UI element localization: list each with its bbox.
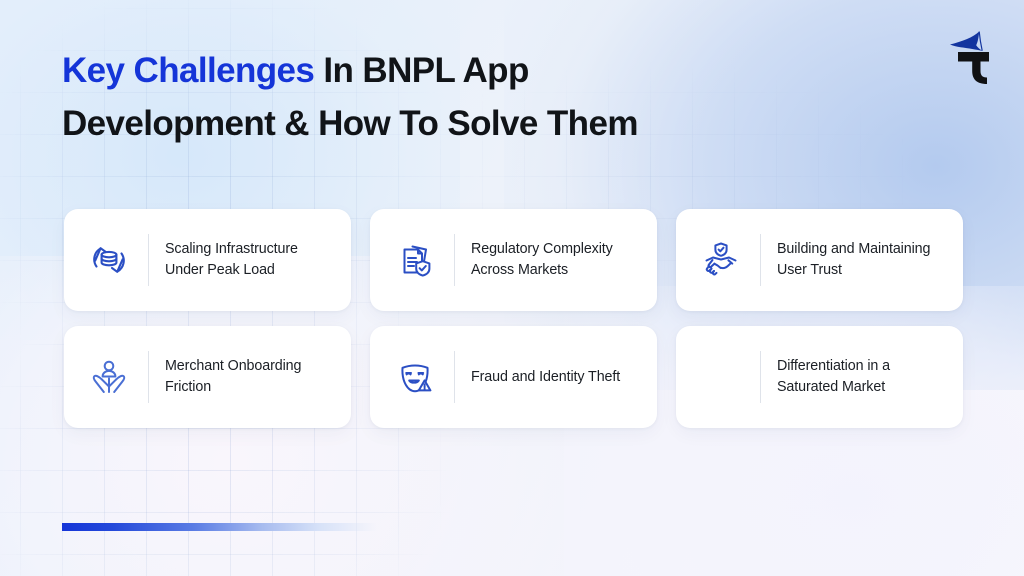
card-divider xyxy=(454,351,455,403)
challenge-card-label: Differentiation in a Saturated Market xyxy=(777,356,947,398)
challenge-card-grid: Scaling Infrastructure Under Peak Load R… xyxy=(64,209,964,428)
documents-shield-check-icon xyxy=(388,233,442,287)
challenge-card-label: Fraud and Identity Theft xyxy=(471,367,620,388)
card-divider xyxy=(760,351,761,403)
challenge-card-label: Regulatory Complexity Across Markets xyxy=(471,239,641,281)
handshake-shield-check-icon xyxy=(694,233,748,287)
page-title: Key Challenges In BNPL App Development &… xyxy=(62,44,802,150)
page-title-line2: Development & How To Solve Them xyxy=(62,104,638,143)
page-title-accent: Key Challenges xyxy=(62,51,314,90)
challenge-card[interactable]: Differentiation in a Saturated Market xyxy=(676,326,963,428)
card-divider xyxy=(148,234,149,286)
card-divider xyxy=(454,234,455,286)
challenge-card-label: Building and Maintaining User Trust xyxy=(777,239,947,281)
bottom-accent-bar xyxy=(62,523,376,531)
challenge-card[interactable]: Merchant Onboarding Friction xyxy=(64,326,351,428)
challenge-card[interactable]: Fraud and Identity Theft xyxy=(370,326,657,428)
challenge-card-label: Scaling Infrastructure Under Peak Load xyxy=(165,239,335,281)
challenge-card[interactable]: Scaling Infrastructure Under Peak Load xyxy=(64,209,351,311)
tau-brand-logo xyxy=(944,22,1002,84)
challenge-card[interactable]: Regulatory Complexity Across Markets xyxy=(370,209,657,311)
empty-icon-slot xyxy=(694,350,748,404)
hands-holding-person-icon xyxy=(82,350,136,404)
scaling-database-refresh-icon xyxy=(82,233,136,287)
challenge-card-label: Merchant Onboarding Friction xyxy=(165,356,335,398)
card-divider xyxy=(760,234,761,286)
mask-warning-icon xyxy=(388,350,442,404)
challenge-card[interactable]: Building and Maintaining User Trust xyxy=(676,209,963,311)
page-title-rest: In BNPL App xyxy=(314,51,528,90)
slide-canvas: Key Challenges In BNPL App Development &… xyxy=(0,0,1024,576)
card-divider xyxy=(148,351,149,403)
